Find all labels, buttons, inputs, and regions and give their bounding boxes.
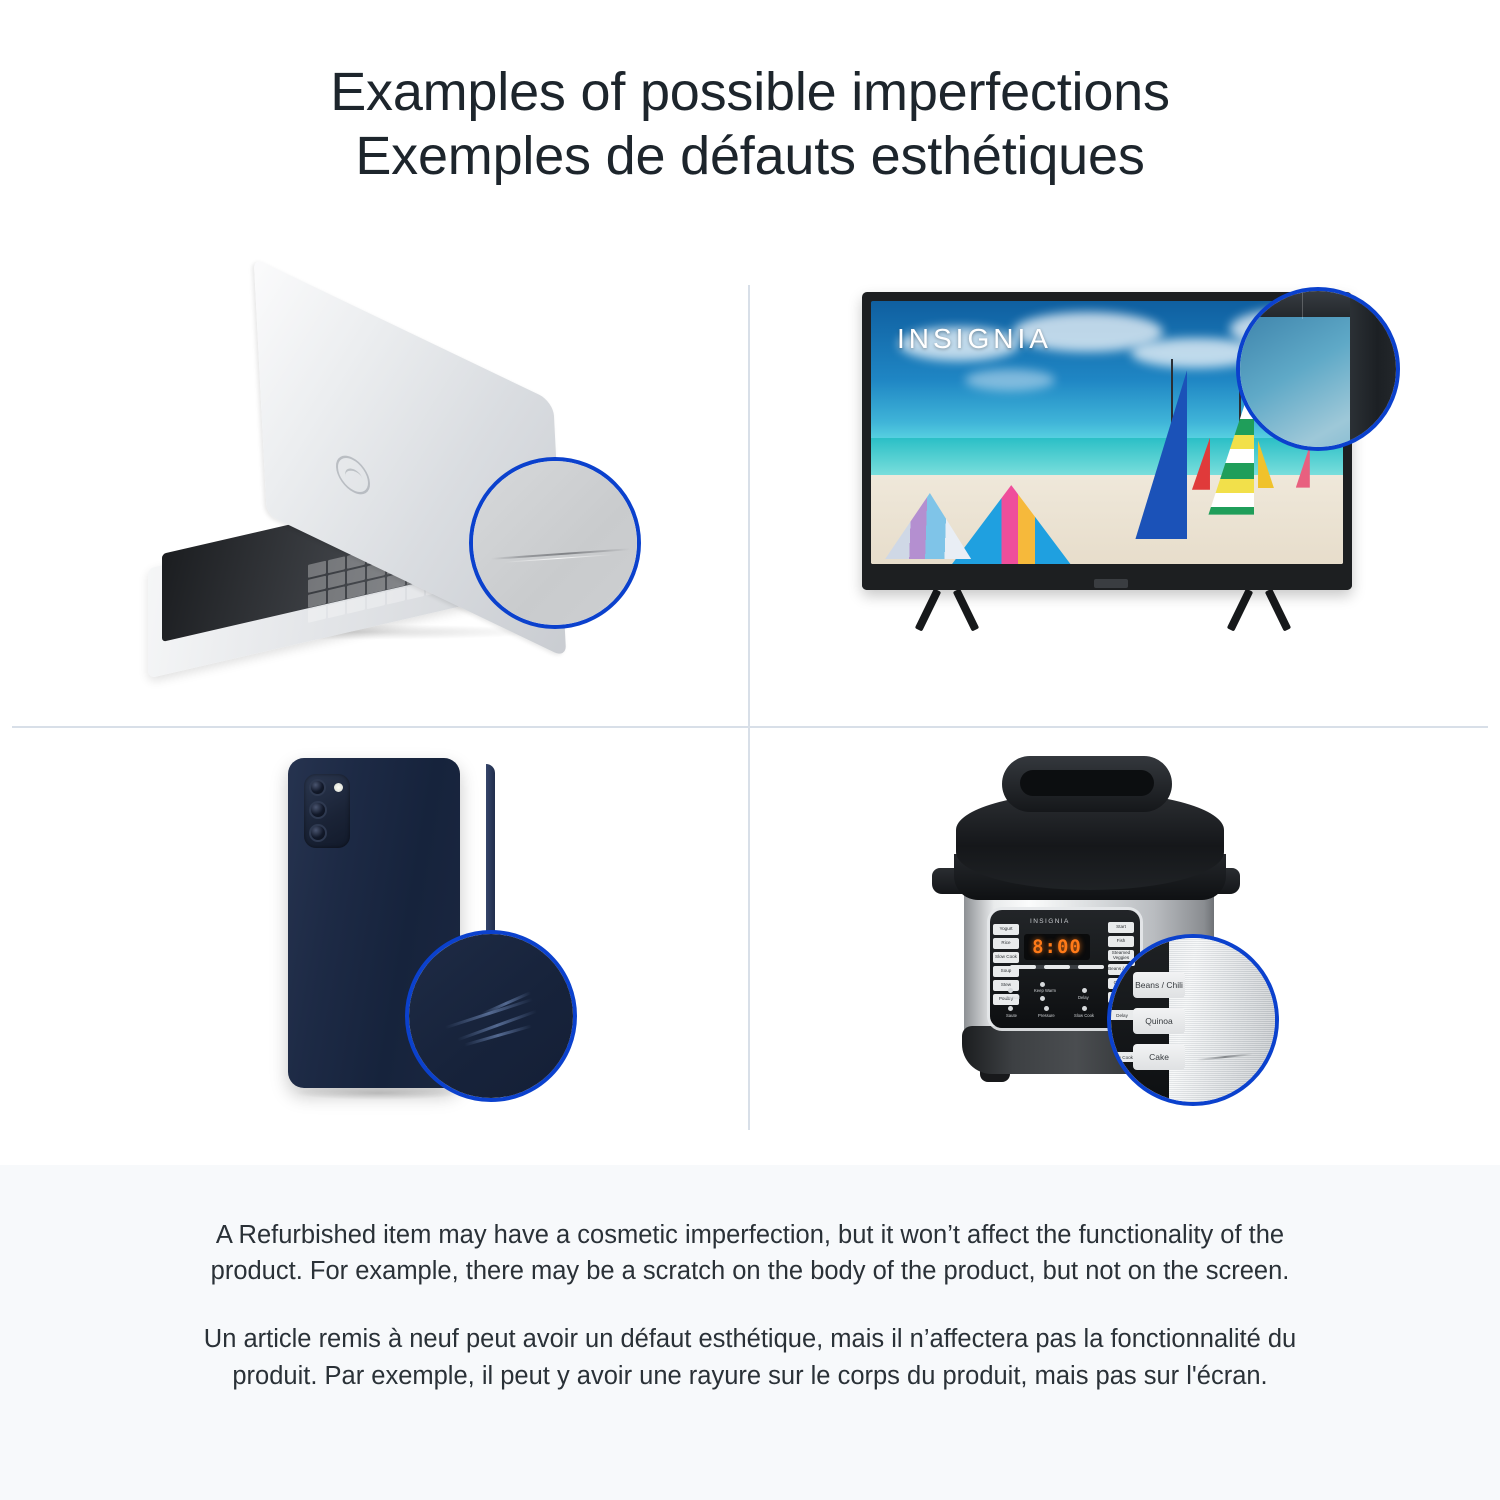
- cooker-btn-left-1[interactable]: Rice: [993, 938, 1019, 949]
- cooker-pressure-bar: [1010, 965, 1104, 969]
- cooker-btn-left-0[interactable]: Yogurt: [993, 924, 1019, 935]
- cooker-dot-label-7: Saute: [1006, 1013, 1017, 1018]
- magnifier-laptop-scratch: [469, 457, 641, 629]
- disclaimer-french: Un article remis à neuf peut avoir un dé…: [185, 1321, 1315, 1393]
- tv-leg-right-a: [1227, 588, 1253, 631]
- cooker-dot-label-8: Slow Cook: [1074, 1013, 1094, 1018]
- mag-cooker-button-2[interactable]: Cake: [1133, 1044, 1185, 1070]
- page-title-french: Exemples de défauts esthétiques: [355, 125, 1144, 189]
- tv-leg-left-a: [915, 588, 941, 631]
- cooker-indicator-dots: Manual Keep Warm Delay Saute Pressure Sl…: [1006, 972, 1106, 1020]
- cooker-led-display: 8:00: [1024, 934, 1090, 960]
- cooker-dot-label-5: Keep Warm: [1034, 988, 1056, 993]
- camera-module-icon: [304, 774, 350, 848]
- disclaimer-english: A Refurbished item may have a cosmetic i…: [185, 1217, 1315, 1289]
- cooker-dot-label-0: Manual: [1006, 995, 1020, 1000]
- cooker-dot-label-6: Pressure: [1038, 1013, 1055, 1018]
- mag-cooker-button-0[interactable]: Beans / Chili: [1133, 972, 1185, 998]
- page-title-english: Examples of possible imperfections: [330, 61, 1170, 125]
- cooker-dot-label-4: Delay: [1078, 995, 1089, 1000]
- magnifier-phone-scratches: [405, 930, 577, 1102]
- tv-leg-left-b: [953, 588, 979, 631]
- magnifier-tv-bezel: [1236, 287, 1400, 451]
- mag-cooker-button-1[interactable]: Quinoa: [1133, 1008, 1185, 1034]
- cooker-btn-left-2[interactable]: Slow Cook: [993, 952, 1019, 963]
- tv-ir-receiver-icon: [1094, 579, 1128, 588]
- cooker-brand-logo: INSIGNIA: [1030, 918, 1070, 925]
- cooker-timer-value: 8:00: [1032, 936, 1082, 958]
- footer-disclaimer: A Refurbished item may have a cosmetic i…: [0, 1165, 1500, 1500]
- page-header: Examples of possible imperfections Exemp…: [0, 0, 1500, 250]
- camera-lens-1-icon: [309, 779, 326, 796]
- cooker-btn-right-0[interactable]: Start: [1108, 922, 1134, 933]
- tv-brand-logo: INSIGNIA: [897, 323, 1052, 355]
- camera-lens-3-icon: [309, 824, 327, 842]
- magnifier-cooker-scratch: Veggies Delay Slow Cook Beans / Chili Qu…: [1107, 934, 1279, 1106]
- refurbished-imperfections-infographic: Examples of possible imperfections Exemp…: [0, 0, 1500, 1500]
- camera-lens-2-icon: [309, 801, 327, 819]
- cooker-lid-handle: [1002, 756, 1172, 812]
- mag-cooker-edge-label-2: Slow Cook: [1109, 1052, 1135, 1062]
- tv-bezel-seam-mark: [1302, 287, 1303, 319]
- example-cell-smartphone: [0, 728, 748, 1165]
- mag-cooker-edge-label-0: Veggies: [1109, 956, 1135, 966]
- mag-cooker-edge-label-1: Delay: [1109, 1010, 1135, 1020]
- tv-leg-right-b: [1265, 588, 1291, 631]
- camera-flash-icon: [334, 783, 343, 792]
